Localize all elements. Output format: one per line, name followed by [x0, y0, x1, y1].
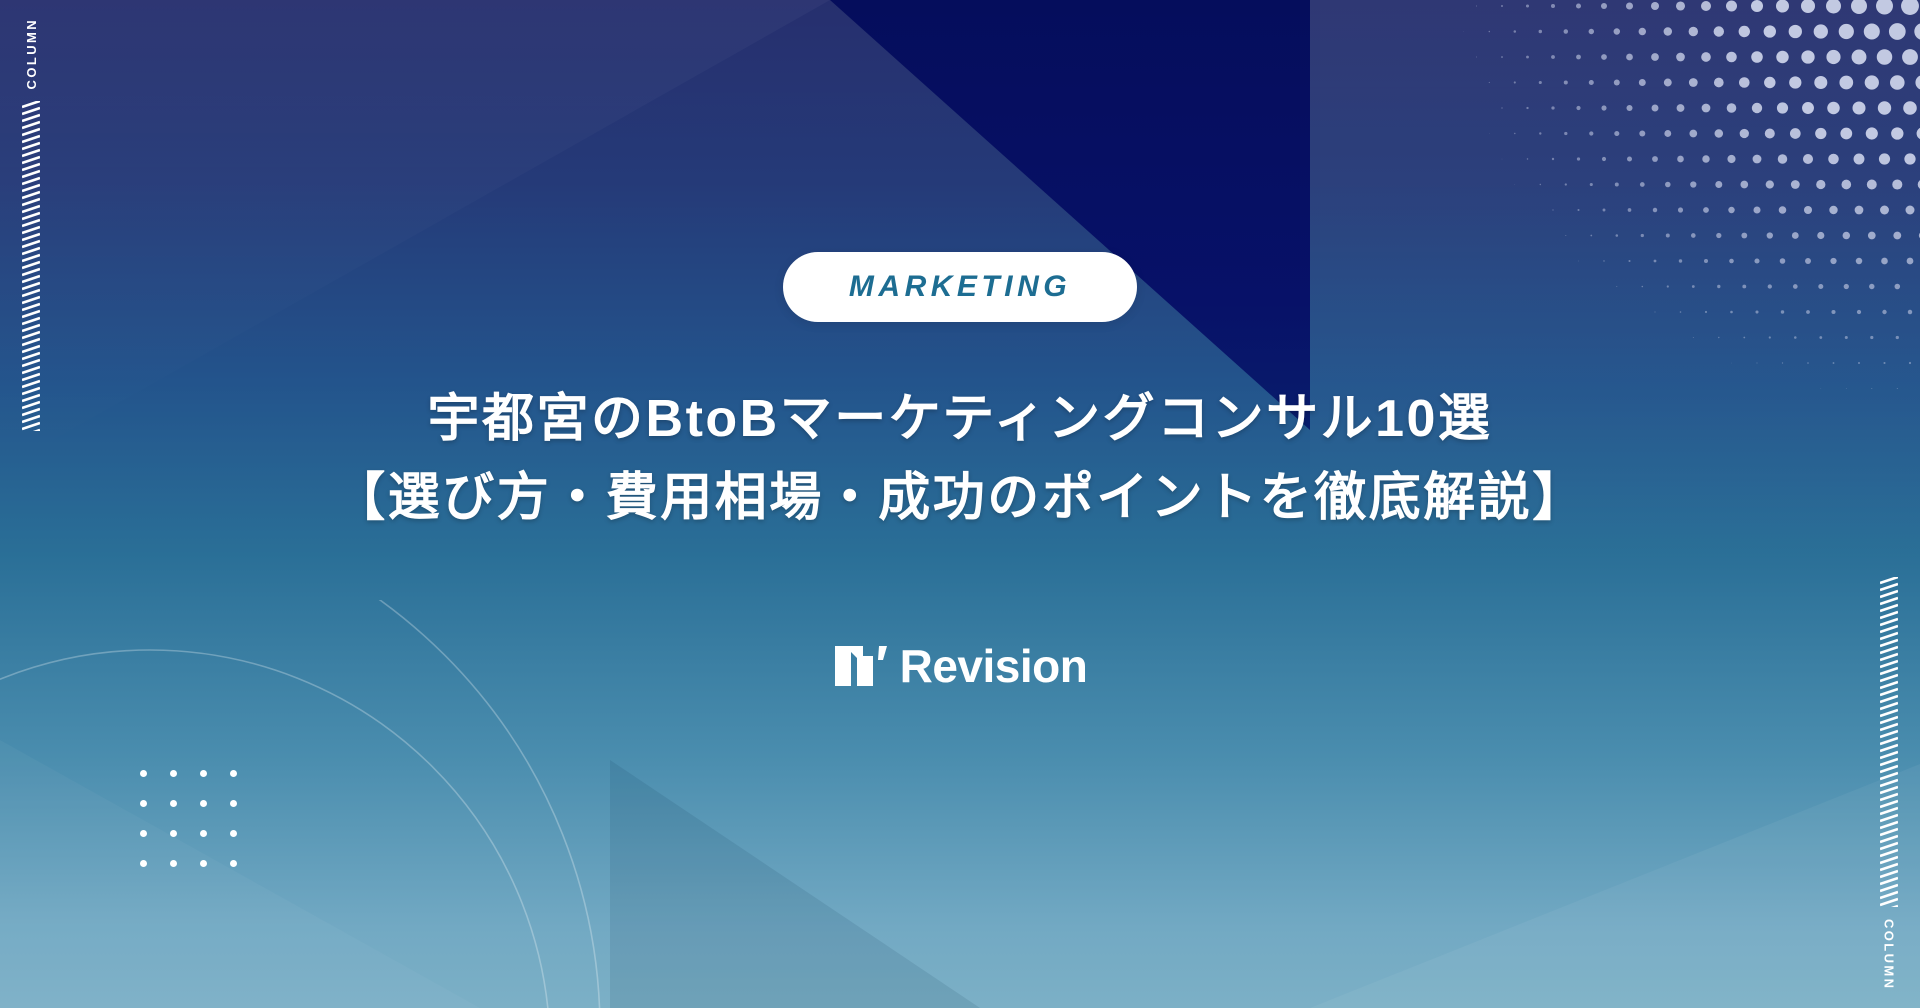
category-badge-label: MARKETING	[849, 272, 1071, 302]
category-badge[interactable]: MARKETING	[783, 252, 1137, 322]
brand-logo[interactable]: Revision	[833, 642, 1088, 690]
thumbnail-canvas: COLUMN COLUMN MARKETING 宇都宮のBtoBマーケティングコ…	[0, 0, 1920, 1008]
page-title-line-2: 【選び方・費用相場・成功のポイントを徹底解説】	[333, 459, 1587, 538]
page-title: 宇都宮のBtoBマーケティングコンサル10選 【選び方・費用相場・成功のポイント…	[333, 380, 1587, 538]
page-title-line-1: 宇都宮のBtoBマーケティングコンサル10選	[333, 380, 1587, 459]
brand-logo-text: Revision	[900, 643, 1088, 689]
main-content: MARKETING 宇都宮のBtoBマーケティングコンサル10選 【選び方・費用…	[0, 0, 1920, 1008]
n-revision-mark-icon	[833, 642, 897, 690]
